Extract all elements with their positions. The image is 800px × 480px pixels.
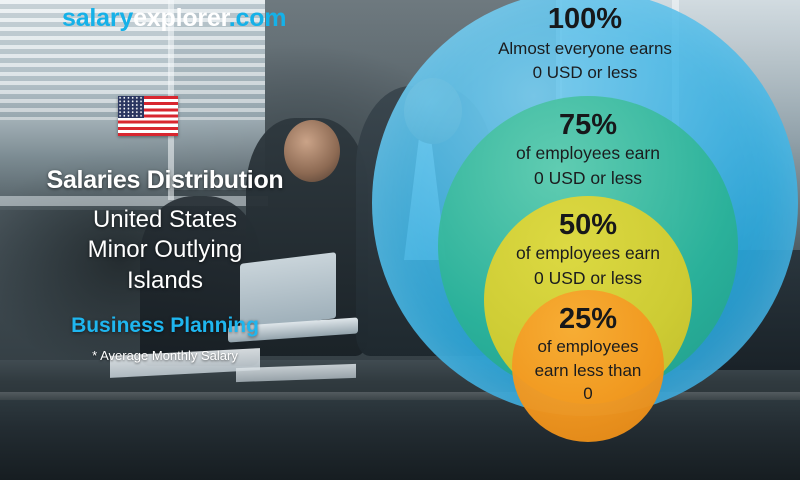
logo-text-salary: salary xyxy=(62,4,133,32)
site-logo[interactable]: salaryexplorer.com xyxy=(62,4,286,33)
flag-canton xyxy=(118,96,144,118)
bubble-75-line2: 0 USD or less xyxy=(534,166,642,191)
country-line-3: Islands xyxy=(0,266,330,296)
bubble-25-percentile: 25% of employees earn less than 0 xyxy=(512,290,664,442)
logo-text-domain: .com xyxy=(229,4,287,32)
country-name: United States Minor Outlying Islands xyxy=(0,205,330,296)
united-states-flag-icon xyxy=(118,96,178,136)
bubble-100-line1: Almost everyone earns xyxy=(498,37,672,61)
bubble-25-line1: of employees xyxy=(537,335,638,358)
bubble-75-line1: of employees earn xyxy=(516,141,660,166)
flag-stars xyxy=(118,96,144,118)
job-title: Business Planning xyxy=(0,314,330,338)
caption-block: Salaries Distribution United States Mino… xyxy=(0,166,330,363)
bubble-25-percent: 25% xyxy=(559,304,617,335)
country-line-1: United States xyxy=(0,205,330,235)
bubble-100-percent: 100% xyxy=(548,4,622,35)
percentile-bubble-chart: 100% Almost everyone earns 0 USD or less… xyxy=(372,0,800,480)
bubble-50-line2: 0 USD or less xyxy=(534,266,642,291)
country-line-2: Minor Outlying xyxy=(0,235,330,265)
bubble-25-line2: earn less than xyxy=(535,359,642,382)
bubble-75-percent: 75% xyxy=(559,110,617,141)
bubble-50-line1: of employees earn xyxy=(516,241,660,266)
infographic-canvas: salaryexplorer.com Salaries Distribution… xyxy=(0,0,800,480)
page-title: Salaries Distribution xyxy=(0,166,330,195)
bubble-50-percent: 50% xyxy=(559,210,617,241)
bubble-100-line2: 0 USD or less xyxy=(533,61,638,85)
bubble-25-line3: 0 xyxy=(583,382,592,405)
salary-period-note: * Average Monthly Salary xyxy=(0,348,330,363)
logo-text-explorer: explorer xyxy=(133,4,229,32)
